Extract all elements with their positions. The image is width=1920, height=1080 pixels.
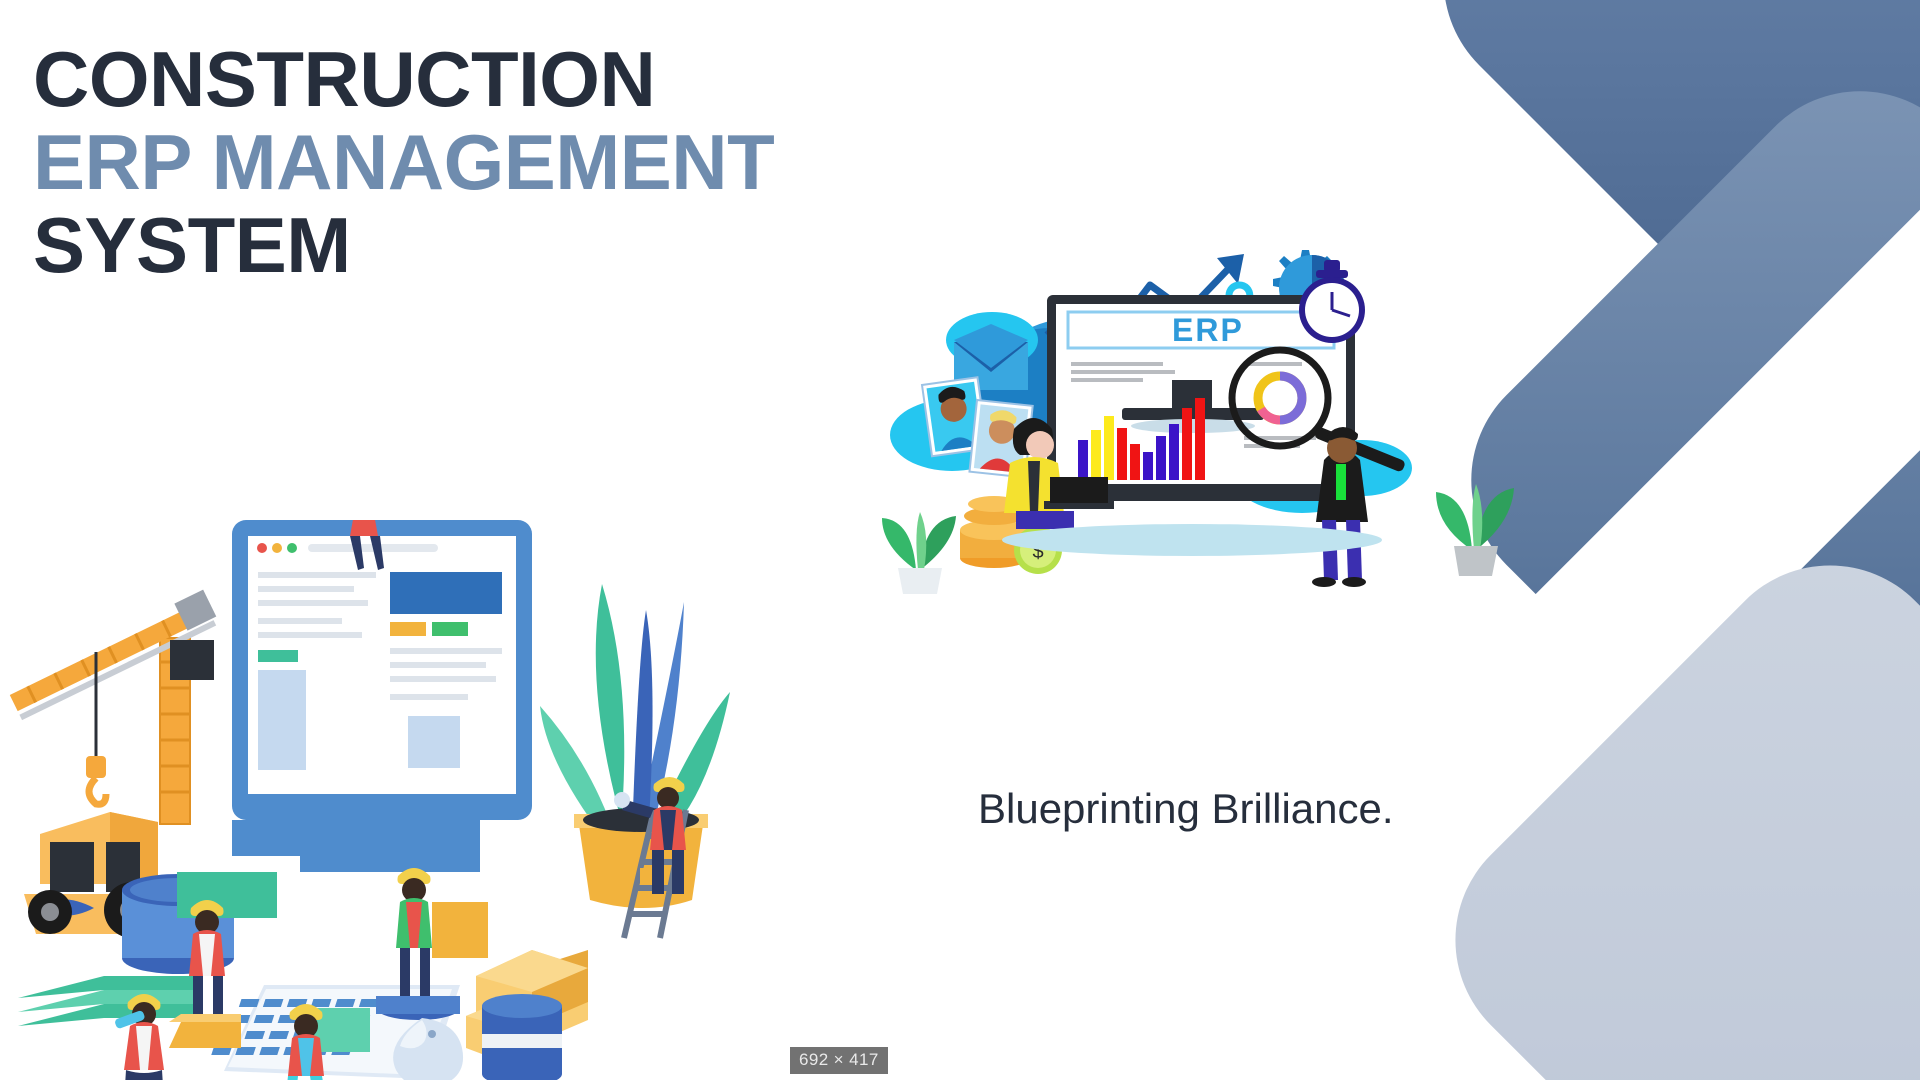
tagline-text: Blueprinting Brilliance. (978, 785, 1394, 833)
presentation-slide: CONSTRUCTION ERP MANAGEMENT SYSTEM Bluep… (0, 0, 1920, 1080)
browser-dot-red (257, 543, 267, 553)
erp-illustration: ERP (872, 240, 1527, 602)
page-title: CONSTRUCTION ERP MANAGEMENT SYSTEM (33, 38, 933, 287)
title-line-2: ERP MANAGEMENT (33, 121, 933, 204)
green-pipes (18, 976, 198, 1026)
potted-plant-right (1436, 484, 1514, 576)
title-line-3: SYSTEM (33, 204, 933, 287)
browser-dot-yellow (272, 543, 282, 553)
potted-plant-left (882, 512, 956, 594)
title-line-1: CONSTRUCTION (33, 38, 933, 121)
desktop-monitor (232, 520, 532, 872)
construction-illustration (0, 520, 860, 1080)
worker-with-box (376, 868, 488, 1020)
erp-screen-label: ERP (1172, 312, 1244, 348)
ground-shadow (1002, 524, 1382, 556)
blue-barrel-small (482, 994, 562, 1080)
tower-crane (5, 590, 219, 824)
image-size-badge: 692 × 417 (790, 1047, 888, 1074)
potted-plant (540, 584, 730, 908)
browser-dot-green (287, 543, 297, 553)
